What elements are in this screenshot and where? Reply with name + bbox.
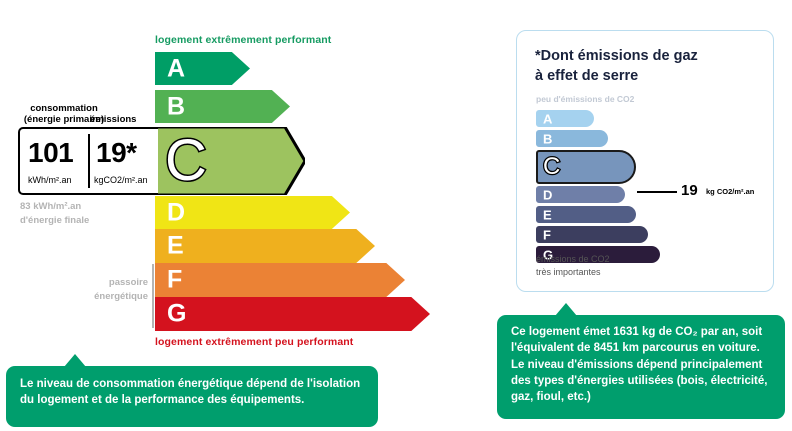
ges-callout: Ce logement émet 1631 kg de CO₂ par an, … — [497, 315, 785, 419]
energy-callout: Le niveau de consommation énergétique dé… — [6, 366, 378, 427]
energy-class-bar-f: F — [155, 263, 405, 297]
ges-class-bar-d: D — [536, 186, 625, 203]
energy-performance-panel: logement extrêmement performant ABCDEFG … — [0, 0, 470, 360]
final-energy-note: 83 kWh/m².an d'énergie finale — [20, 200, 89, 228]
energy-callout-text: Le niveau de consommation énergétique dé… — [20, 376, 364, 409]
ges-class-letter-f: F — [543, 227, 551, 242]
ges-class-letter-e: E — [543, 207, 552, 222]
energy-arrow-shape-g — [155, 297, 430, 331]
energy-class-bar-e: E — [155, 229, 375, 263]
ges-class-bar-e: E — [536, 206, 636, 223]
greenhouse-gas-panel: *Dont émissions de gaz à effet de serre … — [516, 30, 774, 292]
energy-class-bar-c: C — [155, 127, 305, 195]
ges-leader-line — [637, 191, 677, 193]
energy-arrow-shape-f — [155, 263, 405, 297]
ges-caption-bottom: émissions de CO2 très importantes — [536, 253, 610, 278]
passoire-bracket-line — [152, 264, 154, 328]
energy-class-letter-f: F — [167, 268, 182, 293]
consumption-value-box: 101 kWh/m².an 19* kgCO2/m².an — [18, 127, 158, 195]
ges-class-bar-f: F — [536, 226, 648, 243]
energy-class-letter-a: A — [167, 56, 185, 81]
ges-callout-text: Ce logement émet 1631 kg de CO₂ par an, … — [511, 324, 771, 406]
energy-class-letter-g: G — [167, 302, 186, 327]
ges-class-bar-b: B — [536, 130, 608, 147]
ges-class-letter-d: D — [543, 187, 552, 202]
ges-panel-title: *Dont émissions de gaz à effet de serre — [535, 47, 698, 86]
ges-class-letter-a: A — [543, 111, 552, 126]
energy-caption-bottom: logement extrêmement peu performant — [155, 336, 353, 348]
energy-class-letter-e: E — [167, 234, 184, 259]
emissions-value: 19* — [96, 137, 137, 169]
energy-class-bar-b: B — [155, 90, 290, 123]
energy-class-letter-d: D — [167, 200, 185, 225]
value-divider — [88, 134, 90, 188]
emissions-label: émissions — [90, 115, 136, 126]
consumption-value: 101 — [28, 137, 73, 169]
ges-class-letter-b: B — [543, 131, 552, 146]
callout-pointer-icon — [64, 354, 86, 367]
ges-class-bar-c: C — [536, 150, 636, 184]
passoire-energetique-label: passoire énergétique — [90, 276, 148, 304]
energy-class-letter-c: C — [165, 132, 207, 190]
consumption-unit: kWh/m².an — [28, 175, 72, 185]
ges-value: 19 — [681, 182, 698, 199]
callout-pointer-icon — [555, 303, 577, 316]
energy-arrow-shape-e — [155, 229, 375, 263]
ges-class-letter-c: C — [543, 153, 560, 181]
energy-class-bar-a: A — [155, 52, 250, 85]
energy-class-letter-b: B — [167, 94, 185, 119]
ges-class-bar-a: A — [536, 110, 594, 127]
energy-class-bar-g: G — [155, 297, 430, 331]
ges-caption-top: peu d'émissions de CO2 — [536, 94, 634, 104]
ges-value-unit: kg CO2/m².an — [706, 187, 754, 196]
emissions-unit: kgCO2/m².an — [94, 175, 148, 185]
energy-class-bar-d: D — [155, 196, 350, 229]
energy-caption-top: logement extrêmement performant — [155, 34, 331, 46]
